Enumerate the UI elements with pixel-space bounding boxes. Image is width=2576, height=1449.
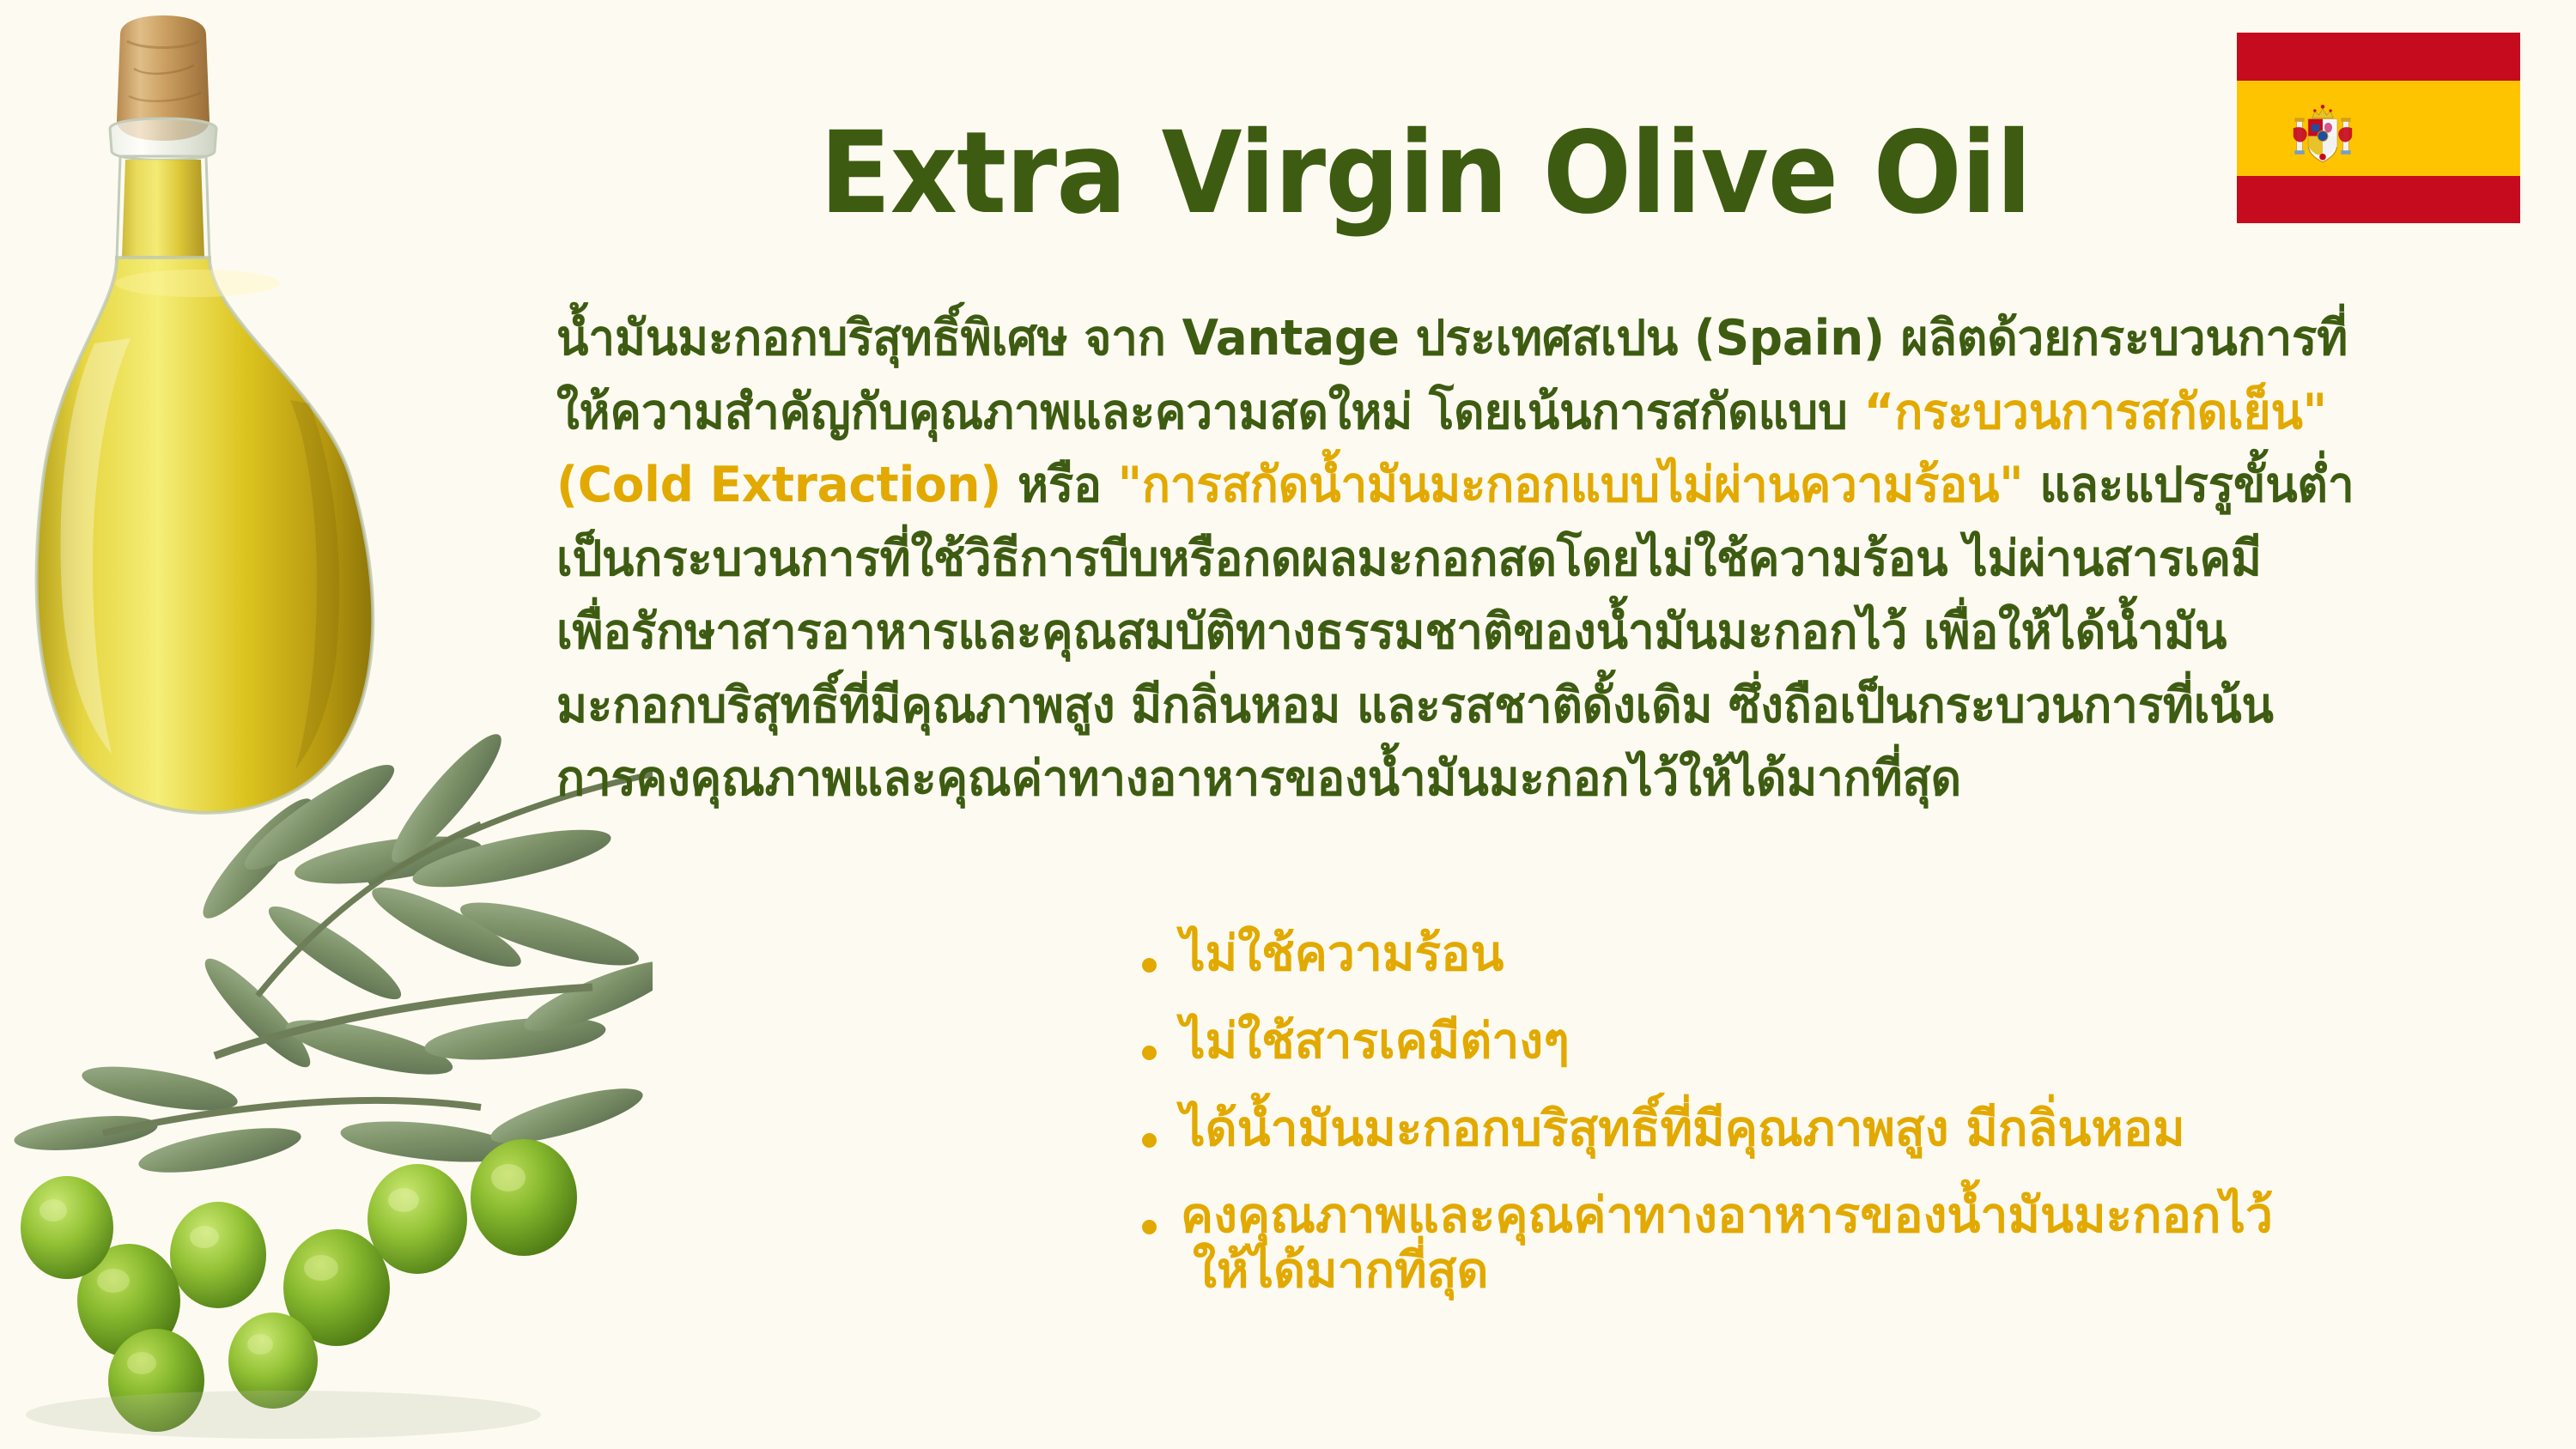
poster-canvas: Extra Virgin Olive Oil น้ำมันมะกอกบริสุท… [0, 0, 2576, 1449]
bullet-dot-icon [1142, 1046, 1157, 1060]
description-line-6-text: มะกอกบริสุทธิ์ที่มีคุณภาพสูง มีกลิ่นหอม … [556, 677, 2274, 734]
description-line-2: ให้ความสำคัญกับคุณภาพและความสดใหม่ โดยเน… [556, 376, 2469, 450]
description-paragraph: น้ำมันมะกอกบริสุทธิ์พิเศษ จาก Vantage ปร… [556, 302, 2469, 816]
description-line-3-connector: หรือ [1001, 457, 1117, 513]
bullet-dot-icon [1142, 1220, 1157, 1234]
flag-stripe-middle-yellow [2237, 81, 2520, 176]
flag-stripe-top-red [2237, 33, 2520, 81]
list-item: คงคุณภาพและคุณค่าทางอาหารของน้ำมันมะกอกไ… [1142, 1189, 2550, 1299]
highlight-no-heat-extraction-thai: "การสกัดน้ำมันมะกอกแบบไม่ผ่านความร้อน" [1118, 457, 2024, 513]
list-item-label: ไม่ใช้ความร้อน [1181, 927, 2550, 982]
description-line-2-text: ให้ความสำคัญกับคุณภาพและความสดใหม่ โดยเน… [556, 384, 1864, 440]
list-item-label-wrapped: คงคุณภาพและคุณค่าทางอาหารของน้ำมันมะกอกไ… [1181, 1189, 2550, 1299]
list-item-label: ได้น้ำมันมะกอกบริสุทธิ์ที่มีคุณภาพสูง มี… [1181, 1102, 2550, 1157]
bullet-dot-icon [1142, 958, 1157, 973]
list-item-label-line-2: ให้ได้มากที่สุด [1181, 1244, 2550, 1299]
flag-stripe-bottom-red [2237, 176, 2520, 224]
description-line-4-text: เป็นกระบวนการที่ใช้วิธีการบีบหรือกดผลมะก… [556, 530, 2262, 587]
description-line-3: (Cold Extraction) หรือ "การสกัดน้ำมันมะก… [556, 449, 2469, 523]
bullet-dot-icon [1142, 1133, 1157, 1148]
description-line-4: เป็นกระบวนการที่ใช้วิธีการบีบหรือกดผลมะก… [556, 523, 2469, 597]
description-line-3-tail: และแปรรูขั้นต่ำ [2024, 457, 2354, 513]
list-item: ไม่ใช้ความร้อน [1142, 927, 2550, 982]
description-line-5: เพื่อรักษาสารอาหารและคุณสมบัติทางธรรมชาต… [556, 596, 2469, 670]
spain-coat-of-arms-icon [2290, 98, 2355, 172]
highlight-cold-extraction-english: (Cold Extraction) [556, 457, 1001, 513]
olive-oil-bottle-photo [0, 0, 653, 1449]
description-line-5-text: เพื่อรักษาสารอาหารและคุณสมบัติทางธรรมชาต… [556, 603, 2227, 660]
description-line-6: มะกอกบริสุทธิ์ที่มีคุณภาพสูง มีกลิ่นหอม … [556, 670, 2469, 743]
list-item-label-line-1: คงคุณภาพและคุณค่าทางอาหารของน้ำมันมะกอกไ… [1181, 1187, 2273, 1244]
page-title: Extra Virgin Olive Oil [699, 117, 2153, 230]
list-item: ได้น้ำมันมะกอกบริสุทธิ์ที่มีคุณภาพสูง มี… [1142, 1102, 2550, 1157]
list-item-label: ไม่ใช้สารเคมีต่างๆ [1181, 1015, 2550, 1070]
description-line-1: น้ำมันมะกอกบริสุทธิ์พิเศษ จาก Vantage ปร… [556, 302, 2469, 376]
description-line-1-text: น้ำมันมะกอกบริสุทธิ์พิเศษ จาก Vantage ปร… [556, 310, 2348, 367]
benefits-list: ไม่ใช้ความร้อน ไม่ใช้สารเคมีต่างๆ ได้น้ำ… [1142, 927, 2550, 1331]
description-line-7-text: การคงคุณภาพและคุณค่าทางอาหารของน้ำมันมะก… [556, 750, 1961, 807]
spain-flag [2237, 33, 2520, 223]
list-item: ไม่ใช้สารเคมีต่างๆ [1142, 1015, 2550, 1070]
highlight-cold-extraction-thai: “กระบวนการสกัดเย็น" [1864, 384, 2327, 440]
description-line-7: การคงคุณภาพและคุณค่าทางอาหารของน้ำมันมะก… [556, 743, 2469, 816]
